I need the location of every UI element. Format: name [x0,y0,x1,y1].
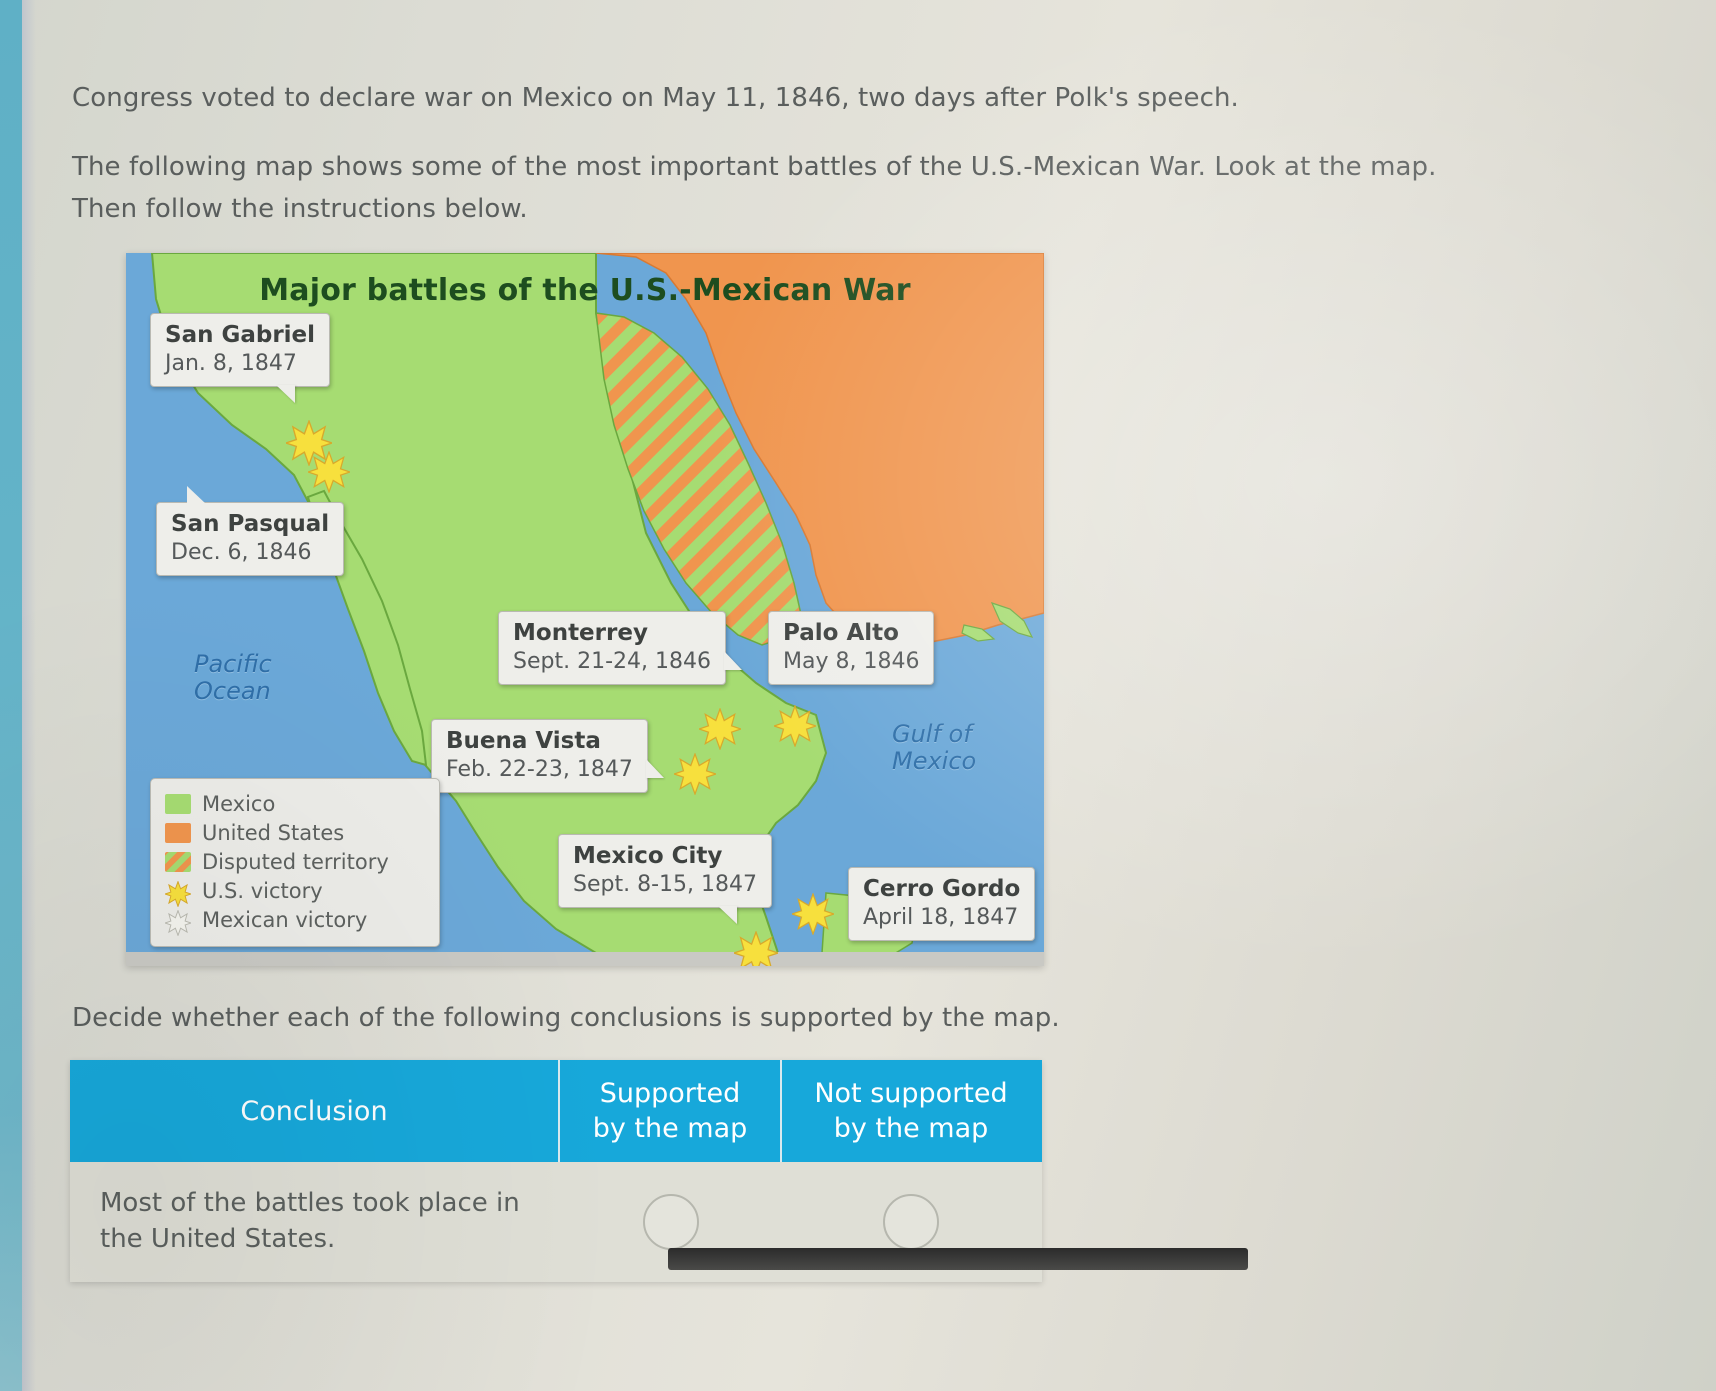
legend-label: Mexican victory [202,908,367,932]
legend-item-united-states: United States [165,818,425,847]
radio-supported[interactable] [643,1194,699,1250]
battle-marker-buena-vista [674,753,716,795]
legend-item-disputed-territory: Disputed territory [165,847,425,876]
gulf-line-2: Mexico [892,748,976,775]
callout-name: Monterrey [513,619,711,648]
column-header-conclusion: Conclusion [70,1060,560,1162]
callout-buena-vista: Buena Vista Feb. 22-23, 1847 [431,719,648,793]
callout-name: Mexico City [573,842,757,871]
mexican-victory-star-icon [165,910,191,930]
callout-name: Buena Vista [446,727,633,756]
callout-palo-alto: Palo Alto May 8, 1846 [768,611,934,685]
legend-label: Disputed territory [202,850,389,874]
gulf-of-mexico-label: Gulf of Mexico [892,721,976,775]
lesson-page: Congress voted to declare war on Mexico … [0,0,1716,1391]
legend-label: United States [202,821,344,845]
legend-label: U.S. victory [202,879,323,903]
callout-monterrey: Monterrey Sept. 21-24, 1846 [498,611,726,685]
mexico-swatch [165,794,191,814]
battle-marker-monterrey [699,708,741,750]
gulf-line-1: Gulf of [892,721,976,748]
callout-date: Jan. 8, 1847 [165,350,315,377]
radio-not-supported[interactable] [883,1194,939,1250]
supported-line-1: Supported [593,1076,748,1111]
map-canvas: Major battles of the U.S.-Mexican War Pa… [126,253,1044,966]
legend-item-mexico: Mexico [165,789,425,818]
disputed-territory-swatch [165,852,191,872]
legend-label: Mexico [202,792,275,816]
screen-bottom-bar [668,1248,1248,1270]
legend-item-mexican-victory: Mexican victory [165,905,425,934]
battle-marker-cerro-gordo [792,893,834,935]
not-supported-line-2: by the map [814,1111,1007,1146]
pacific-line-1: Pacific [194,651,272,678]
callout-cerro-gordo: Cerro Gordo April 18, 1847 [848,867,1035,941]
table-header-row: Conclusion Supported by the map Not supp… [70,1060,1042,1162]
intro-paragraph-1: Congress voted to declare war on Mexico … [72,77,1472,119]
pacific-line-2: Ocean [194,678,272,705]
callout-date: Dec. 6, 1846 [171,539,329,566]
column-header-not-supported: Not supported by the map [782,1060,1040,1162]
map-bottom-strip [126,952,1044,966]
callout-date: Sept. 21-24, 1846 [513,648,711,675]
us-victory-star-icon [165,881,191,901]
callout-date: Feb. 22-23, 1847 [446,756,633,783]
battles-map: Major battles of the U.S.-Mexican War Pa… [126,253,1044,966]
map-title: Major battles of the U.S.-Mexican War [126,273,1044,308]
instruction-text: Decide whether each of the following con… [72,997,1372,1039]
callout-name: San Gabriel [165,321,315,350]
battle-marker-mexico-city [734,931,778,966]
callout-name: Palo Alto [783,619,919,648]
pacific-ocean-label: Pacific Ocean [194,651,272,705]
not-supported-line-1: Not supported [814,1076,1007,1111]
callout-date: April 18, 1847 [863,904,1020,931]
callout-date: May 8, 1846 [783,648,919,675]
callout-date: Sept. 8-15, 1847 [573,871,757,898]
callout-name: Cerro Gordo [863,875,1020,904]
battle-marker-san-pasqual [308,451,350,493]
callout-san-gabriel: San Gabriel Jan. 8, 1847 [150,313,330,387]
column-header-supported: Supported by the map [560,1060,782,1162]
supported-line-2: by the map [593,1111,748,1146]
callout-mexico-city: Mexico City Sept. 8-15, 1847 [558,834,772,908]
map-legend: Mexico United States Disputed territory [150,778,440,947]
conclusion-cell: Most of the battles took place in the Un… [70,1162,560,1282]
callout-name: San Pasqual [171,510,329,539]
united-states-swatch [165,823,191,843]
legend-item-us-victory: U.S. victory [165,876,425,905]
battle-marker-palo-alto [774,705,816,747]
callout-san-pasqual: San Pasqual Dec. 6, 1846 [156,502,344,576]
intro-paragraph-2: The following map shows some of the most… [72,146,1462,230]
